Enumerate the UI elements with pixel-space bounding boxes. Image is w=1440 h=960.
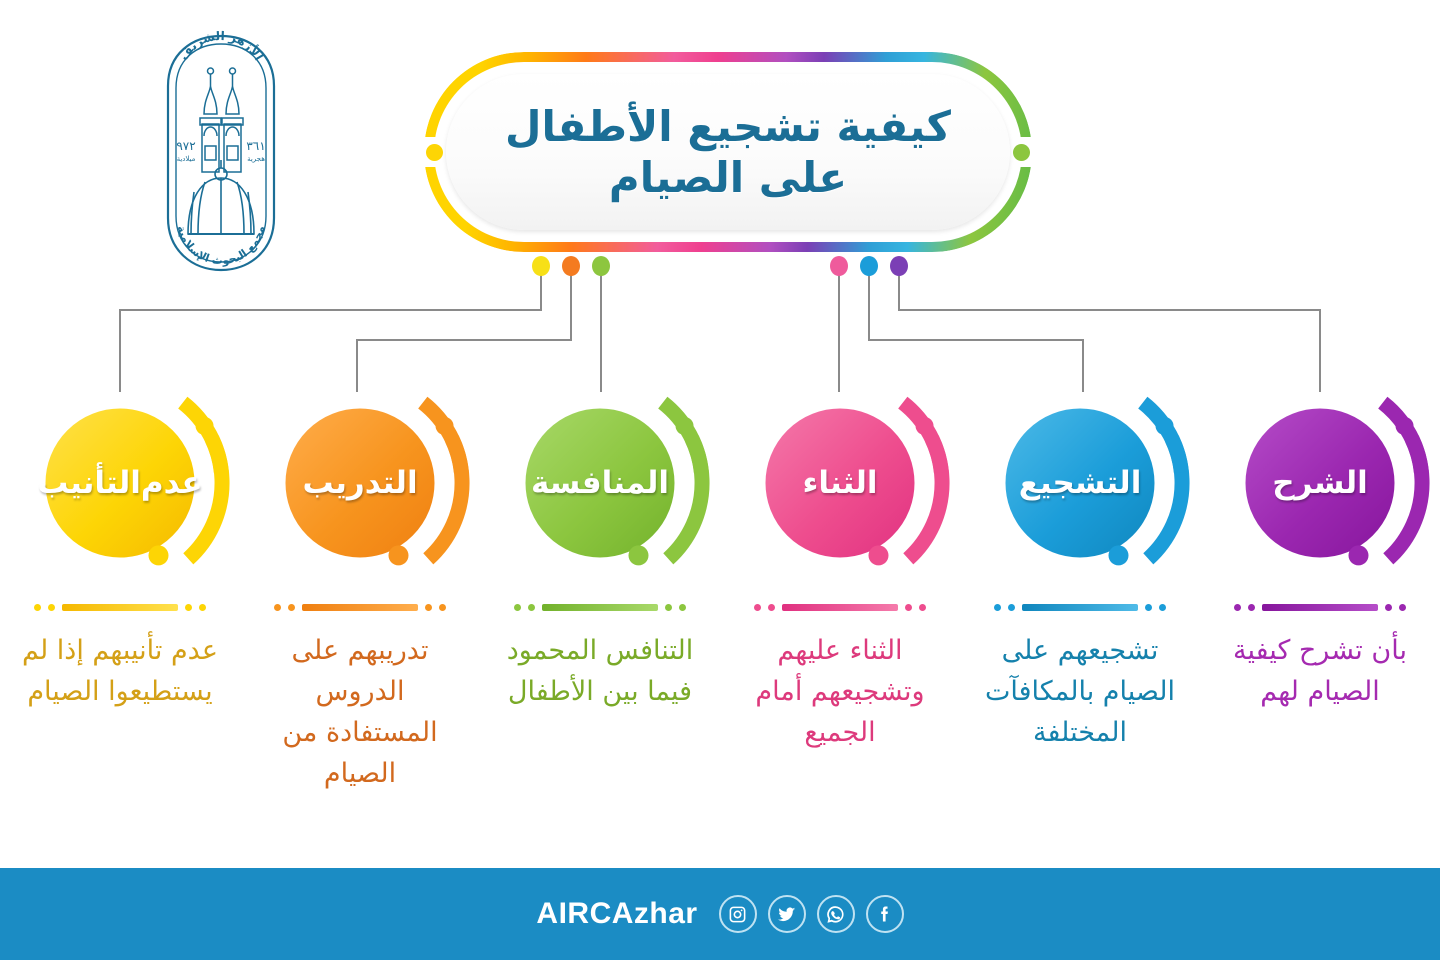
node-circle-alsharh[interactable]: الشرح <box>1200 372 1440 594</box>
node-divider <box>960 594 1200 620</box>
node-caption-adam-altaneeb: عدم تأنيبهم إذا لم يستطيعوا الصيام <box>0 630 240 712</box>
circle-graphic <box>480 372 720 594</box>
node-althanaa: الثناءالثناء عليهم وتشجيعهم أمام الجميع <box>720 372 960 842</box>
node-circle-adam-altaneeb[interactable]: عدمالتأنيب <box>0 372 240 594</box>
infographic-root: الأزهر الشريف مجمع البحوث الإسلامية ٩٧٢ … <box>0 0 1440 960</box>
ring-accent-dot <box>1396 417 1414 435</box>
connector-pin-dots <box>532 256 908 276</box>
node-caption-almunafasa: التنافس المحمود فيما بين الأطفال <box>480 630 720 712</box>
node-caption-altadreeb: تدريبهم على الدروس المستفادة من الصيام <box>240 630 480 794</box>
pin-dot-blue <box>860 256 878 276</box>
node-circle-althanaa[interactable]: الثناء <box>720 372 960 594</box>
node-alsharh: الشرحبأن تشرح كيفية الصيام لهم <box>1200 372 1440 842</box>
node-divider <box>1200 594 1440 620</box>
node-caption-alsharh: بأن تشرح كيفية الصيام لهم <box>1200 630 1440 712</box>
pin-dot-pink <box>830 256 848 276</box>
footer-bar: AIRCAzhar <box>0 868 1440 960</box>
circle-graphic <box>960 372 1200 594</box>
pin-dot-green <box>592 256 610 276</box>
facebook-icon[interactable] <box>866 895 904 933</box>
node-divider <box>0 594 240 620</box>
whatsapp-icon[interactable] <box>817 895 855 933</box>
ring-accent-dot <box>1156 417 1174 435</box>
ring-accent-dot <box>196 417 214 435</box>
twitter-icon[interactable] <box>768 895 806 933</box>
ring-accent-dot <box>676 417 694 435</box>
node-adam-altaneeb: عدمالتأنيبعدم تأنيبهم إذا لم يستطيعوا ال… <box>0 372 240 842</box>
circle-graphic <box>720 372 960 594</box>
node-circle-altashjee[interactable]: التشجيع <box>960 372 1200 594</box>
node-altashjee: التشجيعتشجيعهم على الصيام بالمكافآت المخ… <box>960 372 1200 842</box>
instagram-icon[interactable] <box>719 895 757 933</box>
node-divider <box>240 594 480 620</box>
node-caption-altashjee: تشجيعهم على الصيام بالمكافآت المختلفة <box>960 630 1200 753</box>
social-handle: AIRCAzhar <box>536 897 697 931</box>
node-altadreeb: التدريبتدريبهم على الدروس المستفادة من ا… <box>240 372 480 842</box>
circle-graphic <box>1200 372 1440 594</box>
node-almunafasa: المنافسةالتنافس المحمود فيما بين الأطفال <box>480 372 720 842</box>
node-row: عدمالتأنيبعدم تأنيبهم إذا لم يستطيعوا ال… <box>0 372 1440 842</box>
circle-graphic <box>240 372 480 594</box>
pin-dot-orange <box>562 256 580 276</box>
node-circle-almunafasa[interactable]: المنافسة <box>480 372 720 594</box>
node-divider <box>720 594 960 620</box>
circle-graphic <box>0 372 240 594</box>
connector-lines <box>0 0 1440 420</box>
ring-accent-dot <box>916 417 934 435</box>
ring-accent-dot <box>436 417 454 435</box>
node-divider <box>480 594 720 620</box>
pin-dot-yellow <box>532 256 550 276</box>
pin-dot-purple <box>890 256 908 276</box>
node-caption-althanaa: الثناء عليهم وتشجيعهم أمام الجميع <box>720 630 960 753</box>
node-circle-altadreeb[interactable]: التدريب <box>240 372 480 594</box>
